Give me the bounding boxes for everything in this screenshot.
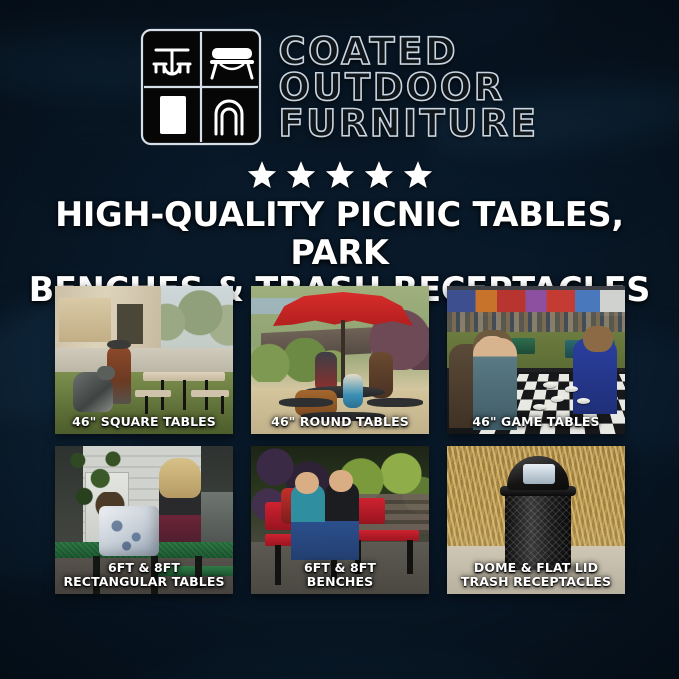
tile-caption: DOME & FLAT LID TRASH RECEPTACLES [447,561,625,589]
product-tile-round-tables[interactable]: 46" ROUND TABLES [251,286,429,434]
game-tables-photo [447,286,625,434]
brand-word-outdoor: OUTDOOR [278,71,504,105]
brand-word-coated: COATED [278,35,458,69]
product-tile-game-tables[interactable]: 46" GAME TABLES [447,286,625,434]
star-icon [364,160,394,190]
product-tile-rectangular-tables[interactable]: 6FT & 8FT RECTANGULAR TABLES [55,446,233,594]
star-icon [286,160,316,190]
caption-line-1: 46" ROUND TABLES [271,414,409,429]
star-icon [325,160,355,190]
star-icon [403,160,433,190]
caption-line-2: BENCHES [251,575,429,589]
caption-line-1: 6FT & 8FT [108,560,180,575]
brand-word-furniture: FURNITURE [278,107,538,141]
round-tables-photo [251,286,429,434]
caption-line-1: 46" SQUARE TABLES [72,414,216,429]
caption-line-1: DOME & FLAT LID [474,560,598,575]
product-tile-grid: 46" SQUARE TABLES [55,286,625,594]
tile-caption: 6FT & 8FT RECTANGULAR TABLES [55,561,233,589]
product-tile-square-tables[interactable]: 46" SQUARE TABLES [55,286,233,434]
square-tables-photo [55,286,233,434]
headline-line-1: HIGH-QUALITY PICNIC TABLES, PARK [55,195,624,272]
product-tile-trash-receptacles[interactable]: DOME & FLAT LID TRASH RECEPTACLES [447,446,625,594]
product-tile-benches[interactable]: 6FT & 8FT BENCHES [251,446,429,594]
four-quadrant-logo-icon [140,28,262,146]
tile-caption: 46" ROUND TABLES [251,415,429,429]
caption-line-1: 6FT & 8FT [304,560,376,575]
caption-line-2: RECTANGULAR TABLES [55,575,233,589]
tile-caption: 46" SQUARE TABLES [55,415,233,429]
caption-line-1: 46" GAME TABLES [472,414,599,429]
star-rating [0,158,679,192]
star-icon [247,160,277,190]
caption-line-2: TRASH RECEPTACLES [447,575,625,589]
product-banner: COATED OUTDOOR FURNITURE HIGH-QUALITY PI… [0,0,679,679]
tile-caption: 6FT & 8FT BENCHES [251,561,429,589]
tile-caption: 46" GAME TABLES [447,415,625,429]
brand-logo: COATED OUTDOOR FURNITURE [0,26,679,148]
